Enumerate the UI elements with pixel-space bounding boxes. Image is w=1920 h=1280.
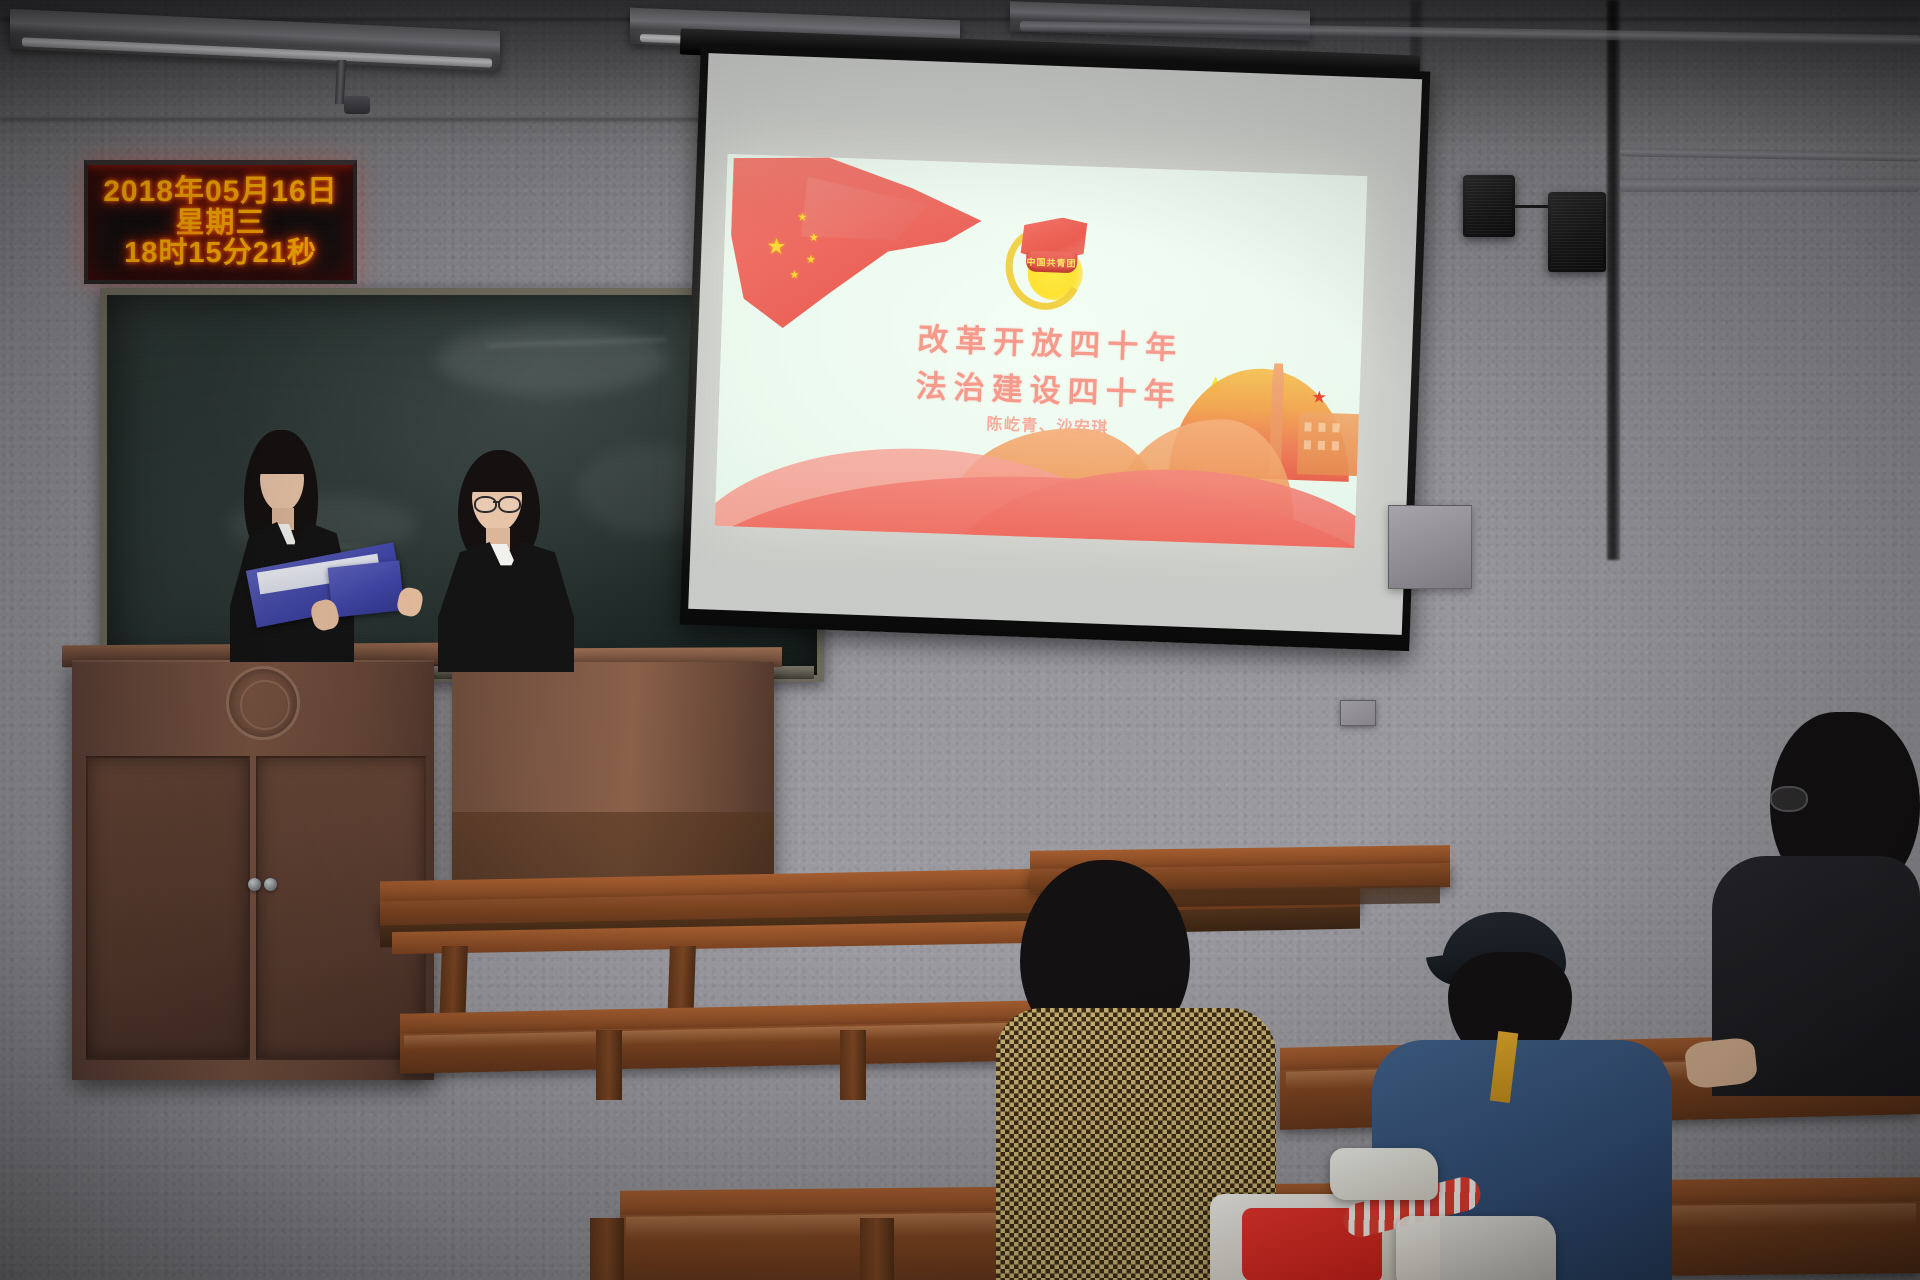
led-date-line: 2018年05月16日 [103, 176, 337, 208]
bench-leg [840, 1030, 866, 1100]
wall-speaker [1548, 192, 1606, 272]
emblem-band-text: 中国共青团 [1026, 255, 1077, 270]
speaker-grill [1551, 195, 1603, 269]
bench-leg [596, 1030, 622, 1100]
flag-star-small: ★ [789, 270, 799, 281]
flag-star-small: ★ [797, 212, 807, 223]
building-window [1332, 441, 1339, 450]
audience-hand [1684, 1036, 1758, 1089]
building-window [1304, 422, 1311, 431]
bench-leg [860, 1218, 894, 1280]
lectern-knob[interactable] [248, 878, 261, 891]
glasses-left-lens [474, 496, 497, 513]
lecture-hall-photo: 2018年05月16日 星期三 18时15分21秒 ★ ★ ★ ★ ★ [0, 0, 1920, 1280]
white-bag [1396, 1216, 1556, 1280]
lectern-knob[interactable] [264, 878, 277, 891]
wall-control-panel[interactable] [1388, 505, 1472, 589]
communist-youth-league-emblem: 中国共青团 [1005, 216, 1092, 305]
wall-speaker [1463, 175, 1515, 237]
light-mount-bracket [344, 96, 370, 114]
building-window [1318, 423, 1325, 432]
ceiling-seam [0, 118, 700, 121]
flag-star-small: ★ [806, 255, 816, 266]
university-seal-emblem [226, 666, 300, 740]
speaker-bracket [1513, 205, 1553, 208]
white-bag [1330, 1148, 1438, 1200]
building-window [1304, 440, 1311, 449]
glasses-bridge [493, 501, 499, 503]
speaker-grill [1466, 178, 1512, 234]
flag-star-large: ★ [766, 235, 786, 258]
building-window [1318, 441, 1325, 450]
slide-building [1297, 412, 1361, 476]
wall-seam [1607, 0, 1620, 560]
audience-glasses [1770, 786, 1808, 812]
slide-title-line-2: 法治建设四十年 [915, 361, 1182, 415]
bench-leg [590, 1218, 624, 1280]
chalk-smudge [437, 325, 667, 395]
ceiling-pipe [1620, 178, 1920, 192]
flag-star-small: ★ [809, 233, 819, 244]
led-time-line: 18时15分21秒 [124, 238, 317, 269]
presenter-left [216, 430, 376, 660]
glasses-right-lens [498, 496, 521, 513]
projected-slide: ★ ★ ★ ★ ★ 中国共青团 改革开放四十年 法治建设四十年 陈屹青、沙安琪 [715, 154, 1368, 548]
presenter-right [424, 450, 588, 665]
building-window [1332, 423, 1339, 432]
emblem-band: 中国共青团 [1026, 251, 1077, 273]
slide-title-line-1: 改革开放四十年 [917, 314, 1184, 368]
led-clock-display: 2018年05月16日 星期三 18时15分21秒 [84, 160, 357, 284]
lectern-door-panel [86, 756, 250, 1060]
led-weekday-line: 星期三 [175, 208, 265, 239]
wall-outlet-box[interactable] [1340, 700, 1376, 726]
slide-small-star: ★ [1311, 388, 1327, 406]
presentation-folder[interactable] [328, 560, 405, 617]
